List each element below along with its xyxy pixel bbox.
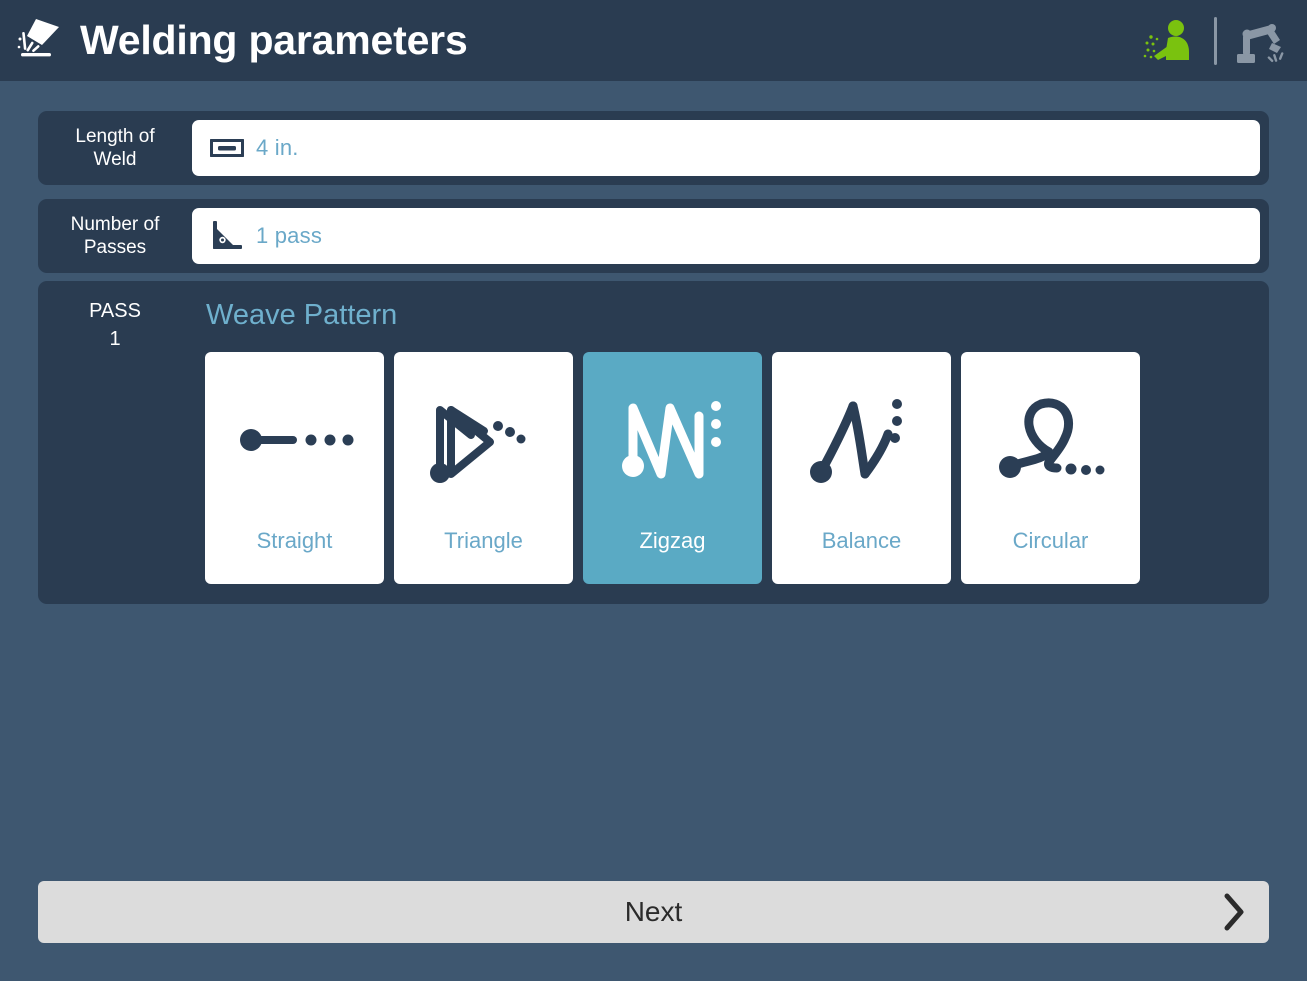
weave-option-circular-label: Circular: [961, 528, 1140, 554]
weave-option-circular[interactable]: Circular: [961, 352, 1140, 584]
weave-pattern-title: Weave Pattern: [206, 299, 397, 332]
weave-option-straight[interactable]: Straight: [205, 352, 384, 584]
number-of-passes-label-line2: Passes: [84, 236, 146, 259]
robot-welder-icon[interactable]: [1231, 12, 1289, 70]
number-of-passes-value: 1 pass: [256, 223, 322, 249]
number-of-passes-label-line1: Number of: [71, 213, 160, 236]
header-mode-icons: [1142, 12, 1307, 70]
weave-option-straight-label: Straight: [205, 528, 384, 554]
weave-circular-icon: [961, 352, 1140, 527]
weave-zigzag-icon: [583, 352, 762, 527]
weld-length-icon: [208, 133, 246, 163]
chevron-right-icon: [1221, 892, 1247, 932]
length-of-weld-label: Length of Weld: [38, 111, 192, 185]
app-header: Welding parameters: [0, 0, 1307, 81]
weave-option-triangle-label: Triangle: [394, 528, 573, 554]
header-divider: [1214, 17, 1217, 65]
weave-option-zigzag-label: Zigzag: [583, 528, 762, 554]
pass-label: PASS 1: [38, 297, 192, 353]
weave-straight-icon: [205, 352, 384, 527]
header-left-group: Welding parameters: [0, 14, 468, 68]
weave-option-balance-label: Balance: [772, 528, 951, 554]
welding-parameters-screen: Welding parameters: [0, 0, 1307, 981]
length-of-weld-value: 4 in.: [256, 135, 299, 161]
welding-torch-icon: [14, 14, 68, 68]
length-of-weld-field[interactable]: 4 in.: [192, 120, 1260, 176]
weave-option-triangle[interactable]: Triangle: [394, 352, 573, 584]
next-button-label: Next: [38, 896, 1269, 928]
next-button[interactable]: Next: [38, 881, 1269, 943]
weave-balance-icon: [772, 352, 951, 527]
length-of-weld-row: Length of Weld 4 in.: [38, 111, 1269, 185]
number-of-passes-field[interactable]: 1 pass: [192, 208, 1260, 264]
length-of-weld-label-line2: Weld: [94, 148, 137, 171]
length-of-weld-label-line1: Length of: [75, 125, 154, 148]
weave-option-balance[interactable]: Balance: [772, 352, 951, 584]
weave-pattern-options: Straight: [205, 352, 1140, 584]
pass-label-text: PASS: [89, 300, 141, 322]
fillet-weld-corner-icon: [208, 219, 246, 253]
number-of-passes-row: Number of Passes 1 pass: [38, 199, 1269, 273]
pass-number: 1: [38, 325, 192, 353]
weave-option-zigzag[interactable]: Zigzag: [583, 352, 762, 584]
page-title: Welding parameters: [80, 17, 468, 64]
weave-triangle-icon: [394, 352, 573, 527]
pass-1-panel: PASS 1 Weave Pattern: [38, 281, 1269, 604]
number-of-passes-label: Number of Passes: [38, 199, 192, 273]
manual-welder-icon[interactable]: [1142, 12, 1200, 70]
